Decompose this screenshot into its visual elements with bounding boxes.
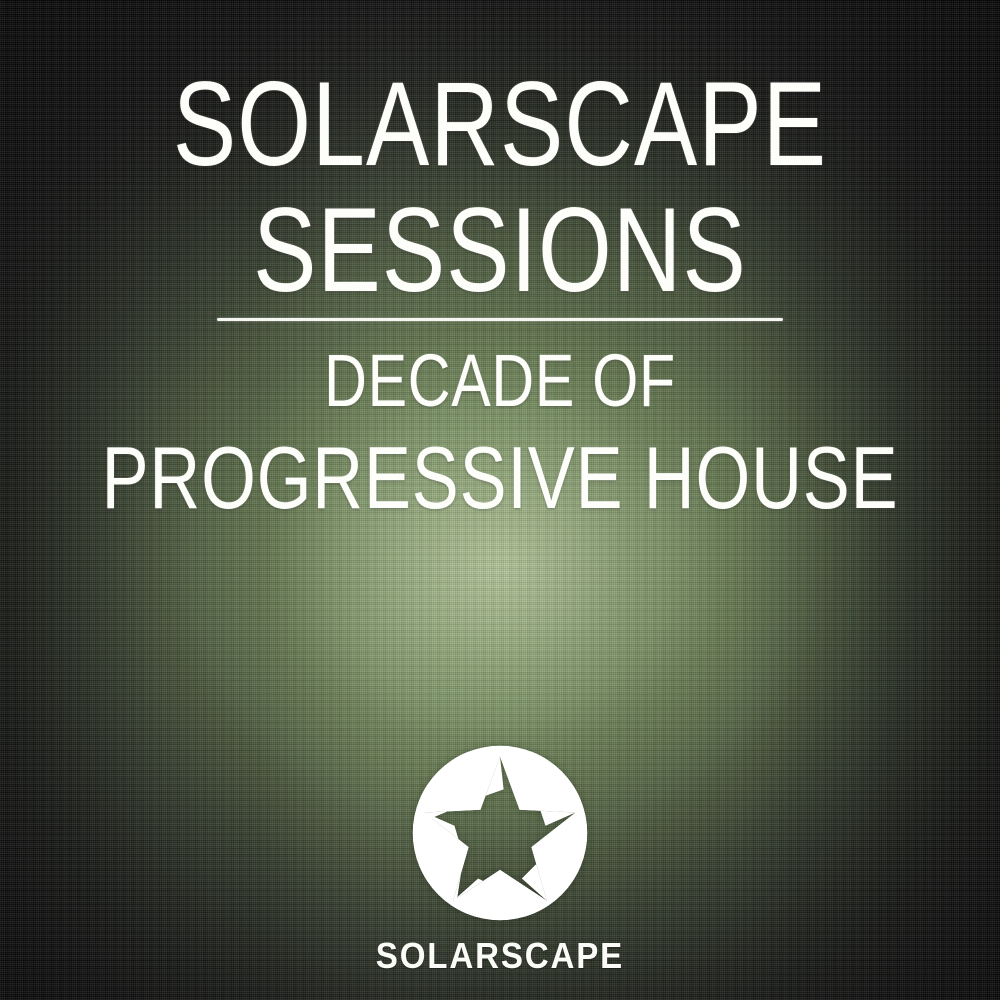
subtitle-block: DECADE OF PROGRESSIVE HOUSE [0,344,1000,522]
subtitle-line-1: DECADE OF [100,344,900,418]
solarscape-circle-star-icon [409,742,591,924]
title-line-1: SOLARSCAPE [105,64,895,184]
logo-block: SOLARSCAPE [0,742,1000,974]
subtitle-line-2: PROGRESSIVE HOUSE [100,434,900,522]
logo-wordmark: SOLARSCAPE [376,938,624,974]
title-line-2: SESSIONS [105,190,895,310]
cover-content: SOLARSCAPE SESSIONS DECADE OF PROGRESSIV… [0,0,1000,1000]
divider-rule [217,318,783,321]
title-block: SOLARSCAPE SESSIONS [0,64,1000,310]
divider-wrap [0,318,1000,321]
album-cover: SOLARSCAPE SESSIONS DECADE OF PROGRESSIV… [0,0,1000,1000]
